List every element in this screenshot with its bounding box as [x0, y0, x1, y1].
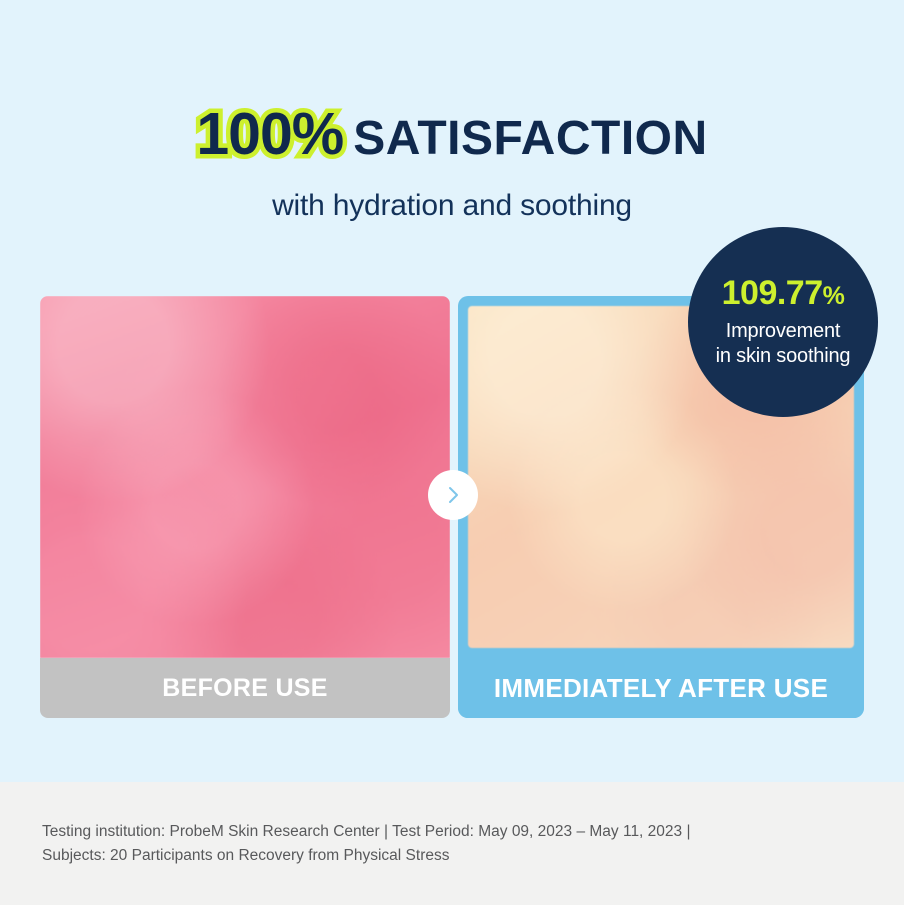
headline-subtitle: with hydration and soothing — [0, 189, 904, 223]
badge-value-number: 109.77 — [722, 274, 823, 312]
improvement-badge: 109.77% Improvement in skin soothing — [688, 227, 878, 417]
before-caption: BEFORE USE — [40, 658, 450, 718]
chevron-right-icon — [442, 484, 464, 506]
headline-percent: 100% — [196, 101, 343, 167]
footnote-line1: Testing institution: ProbeM Skin Researc… — [42, 820, 862, 844]
before-panel: BEFORE USE — [40, 296, 450, 718]
headline-word: SATISFACTION — [353, 112, 707, 165]
promo-poster: 100%SATISFACTION with hydration and soot… — [0, 0, 904, 905]
badge-value-symbol: % — [823, 282, 845, 310]
badge-label-line1: Improvement — [726, 319, 841, 343]
footnote-line2: Subjects: 20 Participants on Recovery fr… — [42, 844, 862, 868]
before-skin-image — [40, 296, 450, 658]
footnote: Testing institution: ProbeM Skin Researc… — [42, 820, 862, 868]
badge-label-line2: in skin soothing — [716, 344, 851, 368]
headline: 100%SATISFACTION — [0, 100, 904, 168]
after-caption: IMMEDIATELY AFTER USE — [458, 658, 864, 718]
badge-value: 109.77% — [722, 276, 845, 310]
comparison-arrow-button[interactable] — [428, 470, 478, 520]
